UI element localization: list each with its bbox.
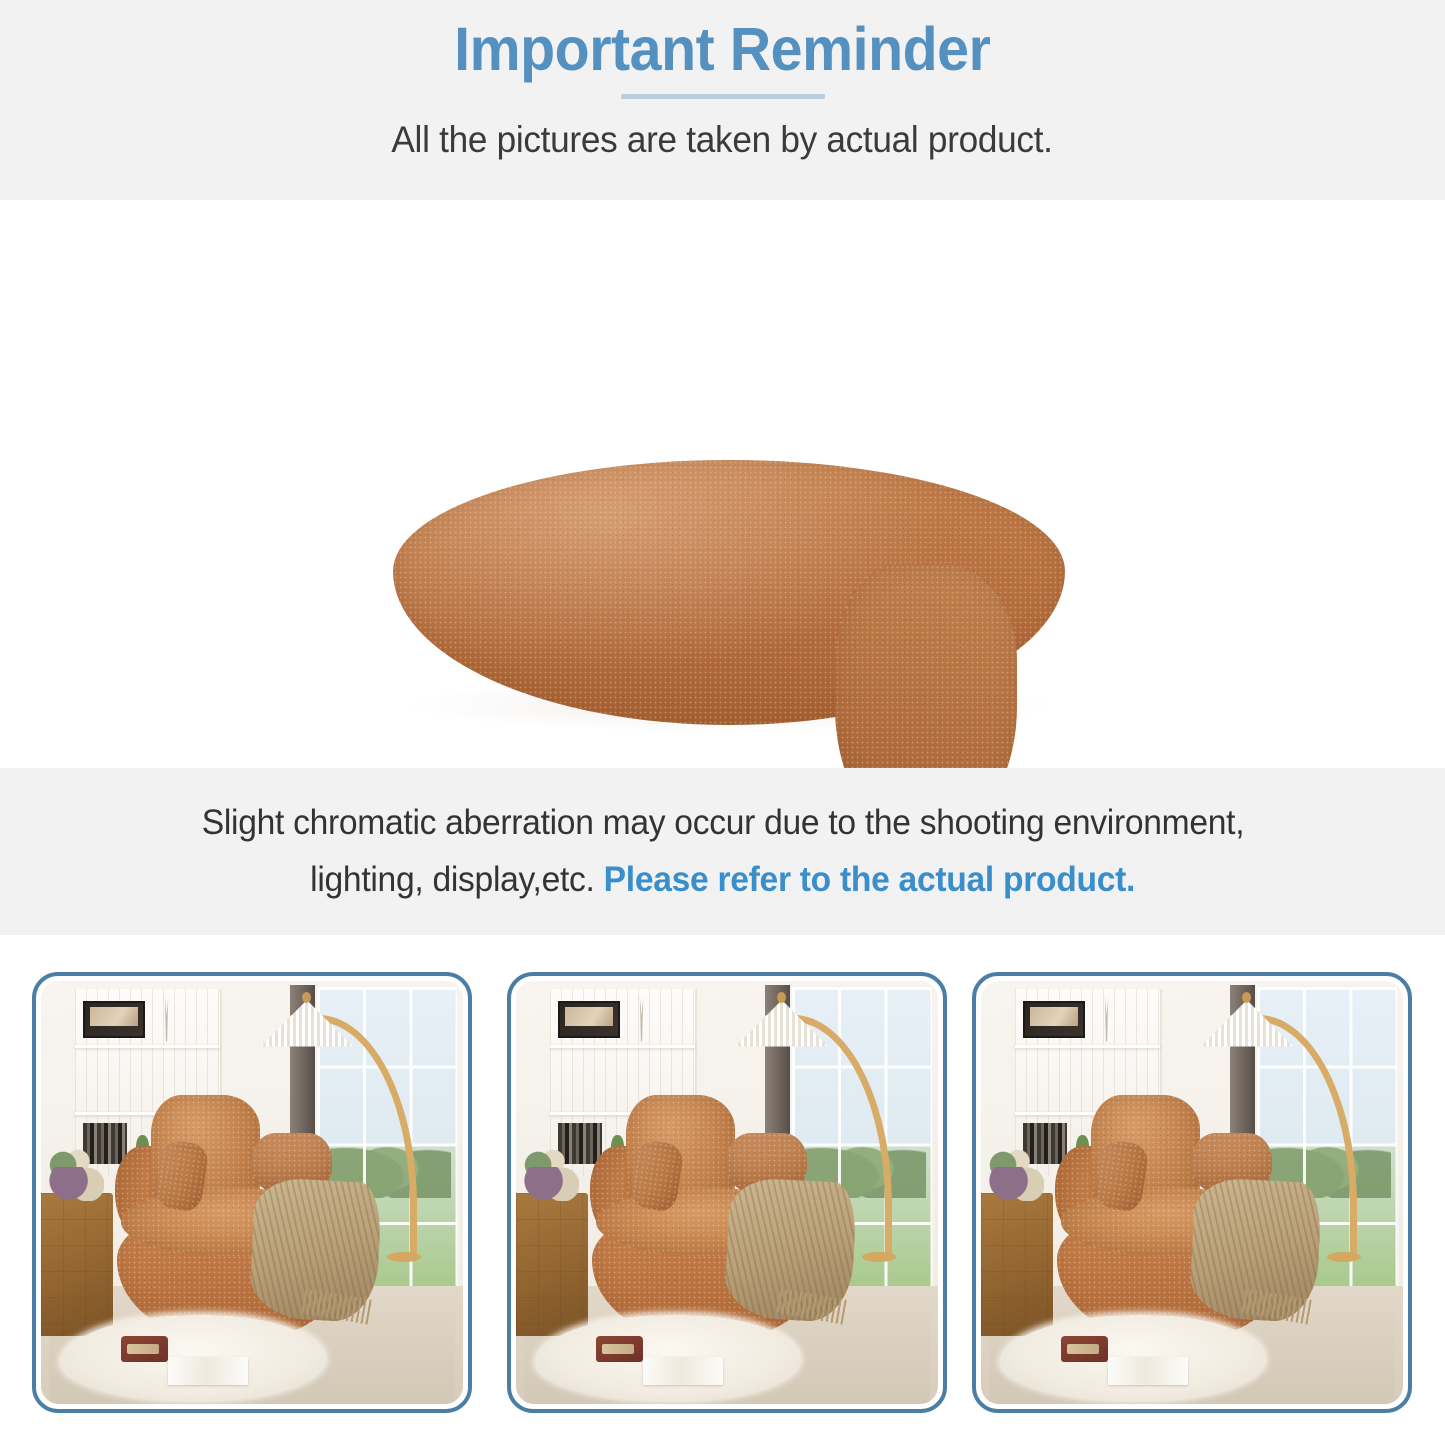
- product-chair-image: [363, 208, 1083, 768]
- thumbnail-2-image: [516, 981, 938, 1404]
- floor-lamp-finial: [777, 992, 786, 1003]
- vintage-radio: [1061, 1336, 1107, 1361]
- header-subtitle: All the pictures are taken by actual pro…: [392, 119, 1053, 161]
- room-scene: [981, 981, 1403, 1404]
- wooden-side-cabinet: [981, 1193, 1053, 1337]
- product-infographic-page: Important Reminder All the pictures are …: [0, 0, 1445, 1445]
- chair-back-rail: [835, 565, 1017, 768]
- room-scene: [516, 981, 938, 1404]
- shelf-board-upper: [550, 1045, 696, 1048]
- framed-art-poster: [1023, 1001, 1084, 1038]
- title-divider: [621, 94, 825, 99]
- notice-band: Slight chromatic aberration may occur du…: [0, 768, 1445, 935]
- floor-lamp-base: [1327, 1252, 1361, 1262]
- cabinet-decor-objects: [45, 1167, 104, 1201]
- shelf-board-upper: [75, 1045, 221, 1048]
- thumbnail-1[interactable]: [32, 972, 472, 1413]
- vintage-radio: [121, 1336, 167, 1361]
- floor-lamp-finial: [1242, 992, 1251, 1003]
- room-scene: [41, 981, 463, 1404]
- thumbnail-3[interactable]: [972, 972, 1412, 1413]
- notice-highlight-text: Please refer to the actual product.: [604, 860, 1135, 899]
- thumbnail-strip: [0, 935, 1445, 1445]
- open-magazine: [1108, 1357, 1188, 1384]
- thumbnail-1-image: [41, 981, 463, 1404]
- framed-art-poster: [558, 1001, 619, 1038]
- header-band: Important Reminder All the pictures are …: [0, 0, 1445, 200]
- shelf-board-upper: [1015, 1045, 1161, 1048]
- wooden-side-cabinet: [516, 1193, 588, 1337]
- floor-lamp-base: [862, 1252, 896, 1262]
- thumbnail-3-image: [981, 981, 1403, 1404]
- open-magazine: [643, 1357, 723, 1384]
- page-title: Important Reminder: [454, 14, 990, 84]
- hero-product-area: [0, 200, 1445, 768]
- wooden-side-cabinet: [41, 1193, 113, 1337]
- open-magazine: [168, 1357, 248, 1384]
- floor-lamp-finial: [302, 992, 311, 1003]
- cabinet-decor-objects: [520, 1167, 579, 1201]
- notice-line-1: Slight chromatic aberration may occur du…: [201, 795, 1244, 852]
- vintage-radio: [596, 1336, 642, 1361]
- framed-art-poster: [83, 1001, 144, 1038]
- notice-line-2: lighting, display,etc. Please refer to t…: [310, 852, 1135, 909]
- thumbnail-2[interactable]: [507, 972, 947, 1413]
- cabinet-decor-objects: [985, 1167, 1044, 1201]
- notice-line-2-plain: lighting, display,etc.: [310, 860, 603, 899]
- floor-lamp-base: [387, 1252, 421, 1262]
